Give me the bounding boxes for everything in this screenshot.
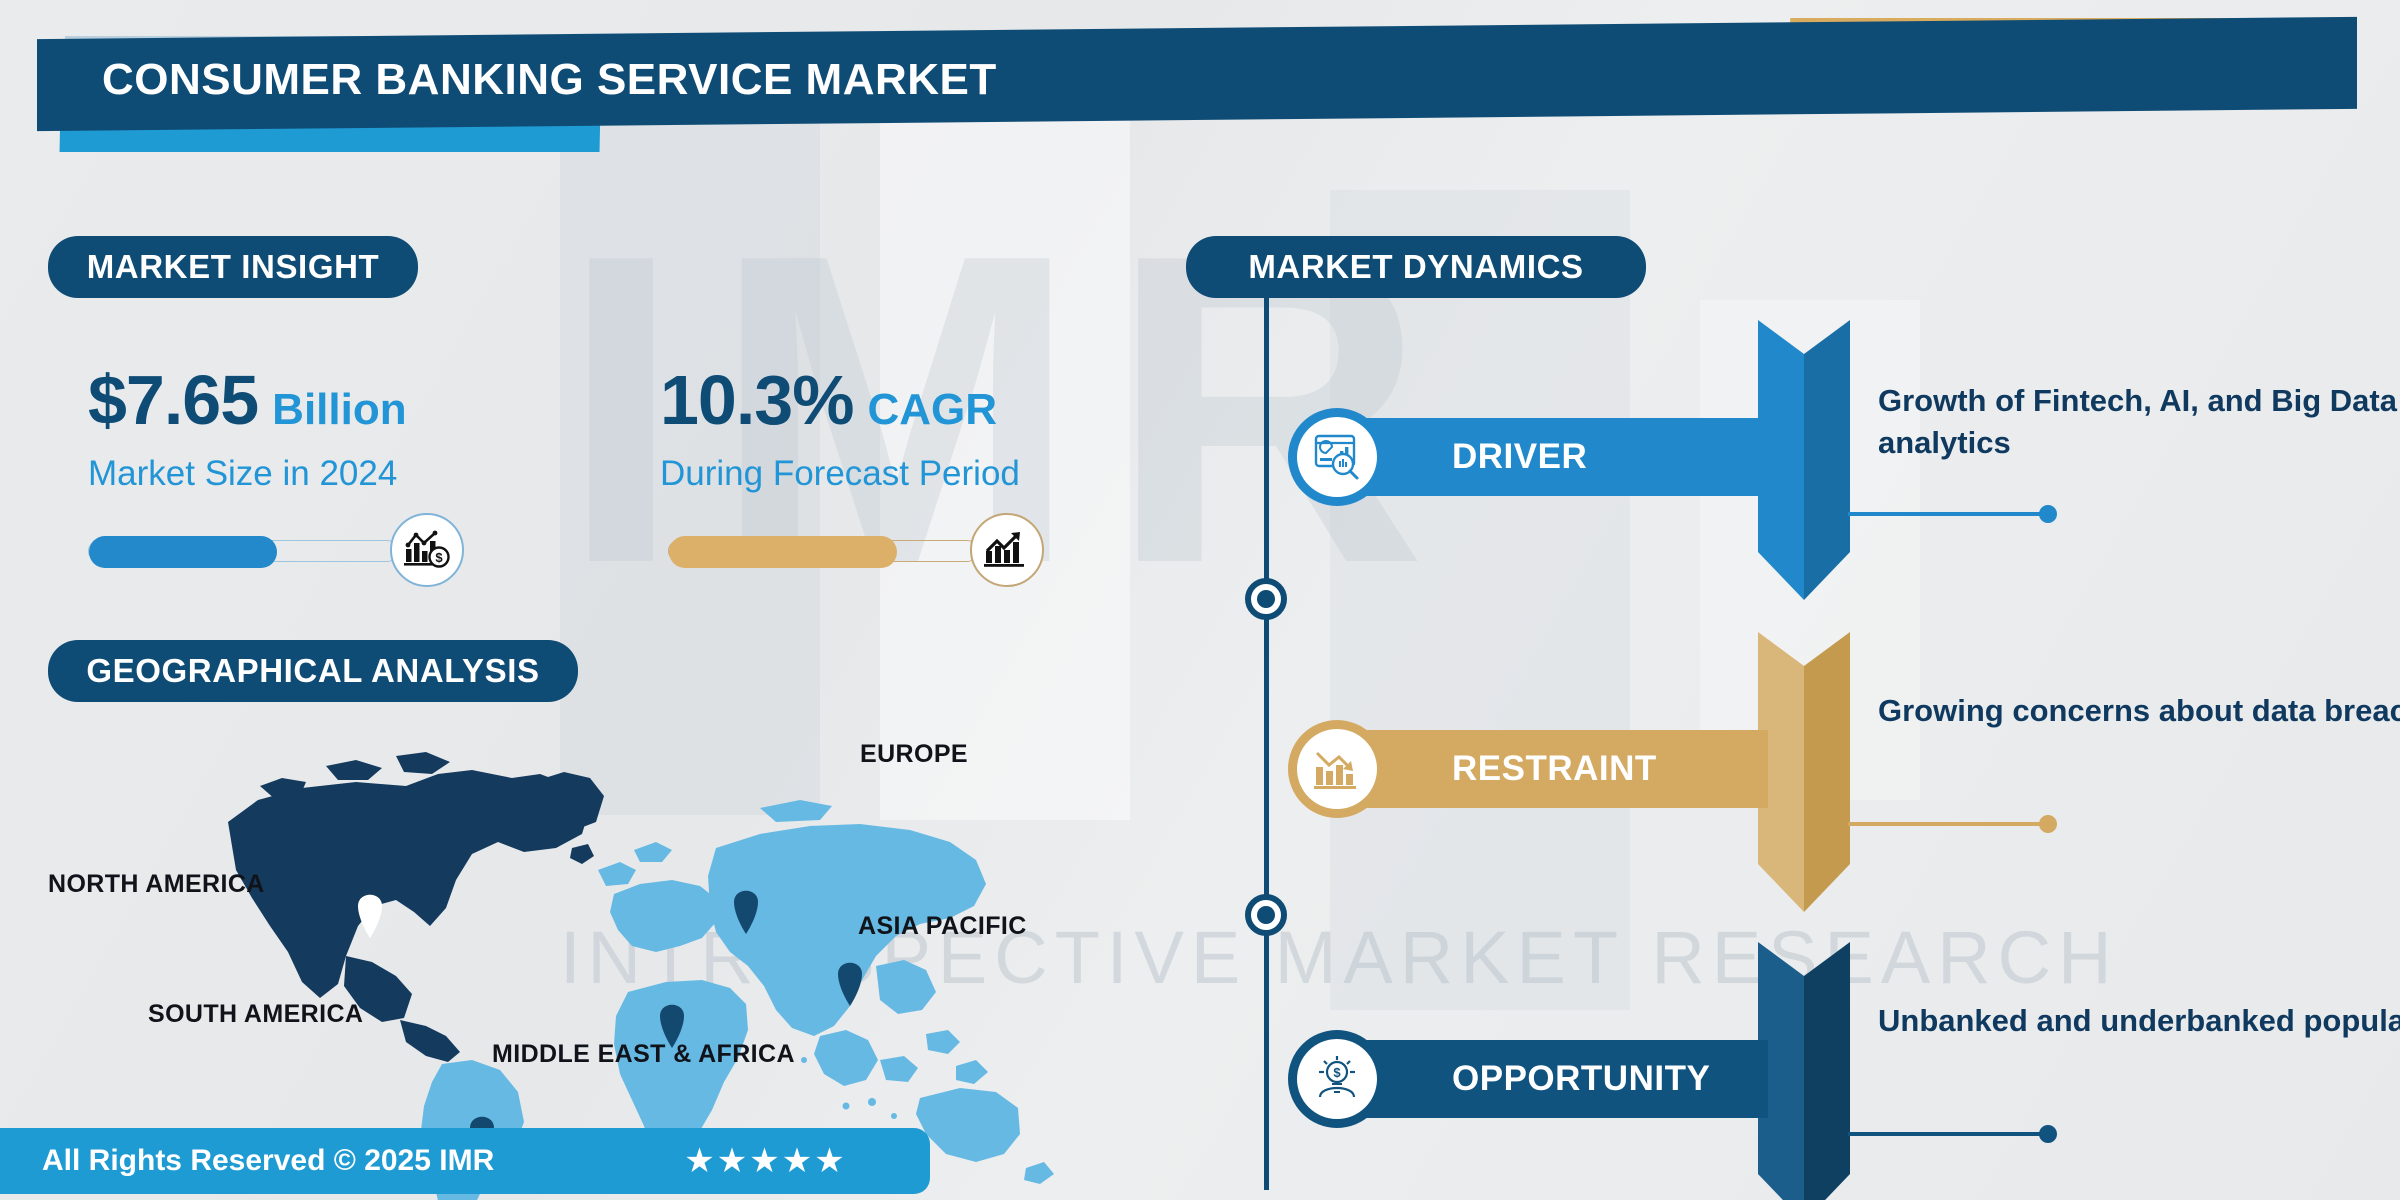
map-pin-north-america[interactable]: [358, 895, 382, 938]
driver-capsule[interactable]: DRIVER: [1326, 418, 1768, 496]
footer-star-rating: ★★★★★: [684, 1141, 846, 1181]
timeline-node-2: [1245, 894, 1287, 936]
map-region-europe: [598, 842, 718, 952]
map-label-south-america: SOUTH AMERICA: [148, 1000, 363, 1029]
opportunity-label: OPPORTUNITY: [1452, 1059, 1710, 1099]
timeline-spine: [1264, 290, 1269, 1190]
market-size-caption: Market Size in 2024: [88, 454, 407, 494]
bar-chart-dollar-icon: $: [390, 513, 464, 587]
timeline-node-1: [1245, 578, 1287, 620]
geographical-analysis-heading: GEOGRAPHICAL ANALYSIS: [48, 640, 578, 702]
market-dynamics-heading: MARKET DYNAMICS: [1186, 236, 1646, 298]
map-region-australia: [916, 1088, 1054, 1184]
map-label-europe: EUROPE: [860, 740, 968, 769]
restraint-ribbon: [1758, 632, 1850, 912]
cagr-progress-bar: [668, 540, 978, 562]
restraint-icon-ring: [1288, 720, 1386, 818]
market-size-progress-fill: [89, 536, 277, 568]
cagr-caption: During Forecast Period: [660, 454, 1020, 494]
opportunity-leader-dot: [2039, 1125, 2057, 1143]
opportunity-leader-line: [1848, 1132, 2048, 1136]
driver-leader-line: [1848, 512, 2048, 516]
opportunity-ribbon: [1758, 942, 1850, 1200]
driver-description: Growth of Fintech, AI, and Big Data anal…: [1878, 380, 2400, 464]
map-label-north-america: NORTH AMERICA: [48, 870, 265, 899]
market-size-unit: Billion: [272, 385, 406, 435]
restraint-description: Growing concerns about data breaches: [1878, 690, 2400, 732]
driver-leader-dot: [2039, 505, 2057, 523]
market-size-progress-bar: [88, 540, 398, 562]
cagr-value: 10.3%: [660, 360, 853, 440]
svg-text:$: $: [435, 550, 443, 565]
market-insight-heading: MARKET INSIGHT: [48, 236, 418, 298]
restraint-leader-dot: [2039, 815, 2057, 833]
background-panel-3: [1330, 190, 1630, 1010]
footer-bar: All Rights Reserved © 2025 IMR ★★★★★: [0, 1128, 930, 1194]
driver-ribbon: [1758, 320, 1850, 600]
market-size-value: $7.65: [88, 360, 258, 440]
map-label-middle-east-africa: MIDDLE EAST & AFRICA: [492, 1040, 795, 1069]
footer-copyright: All Rights Reserved © 2025 IMR: [42, 1144, 494, 1178]
cagr-unit: CAGR: [867, 385, 997, 435]
opportunity-description: Unbanked and underbanked population: [1878, 1000, 2400, 1042]
restraint-leader-line: [1848, 822, 2048, 826]
stat-market-size: $7.65Billion Market Size in 2024: [88, 360, 407, 494]
driver-label: DRIVER: [1452, 437, 1587, 477]
cagr-progress-fill: [669, 536, 897, 568]
infographic-canvas: IMR INTROSPECTIVE MARKET RESEARCH CONSUM…: [0, 0, 2400, 1200]
declining-bar-chart-icon: [1311, 741, 1363, 798]
header-bar: CONSUMER BANKING SERVICE MARKET: [37, 17, 2357, 131]
driver-icon-ring: [1288, 408, 1386, 506]
stat-cagr: 10.3%CAGR During Forecast Period: [660, 360, 1020, 494]
lightbulb-dollar-icon: $: [1311, 1051, 1363, 1108]
opportunity-icon-ring: $: [1288, 1030, 1386, 1128]
restraint-capsule[interactable]: RESTRAINT: [1326, 730, 1768, 808]
growth-arrow-chart-icon: [970, 513, 1044, 587]
map-label-asia-pacific: ASIA PACIFIC: [858, 912, 1027, 941]
restraint-label: RESTRAINT: [1452, 749, 1657, 789]
page-title: CONSUMER BANKING SERVICE MARKET: [102, 55, 997, 105]
opportunity-capsule[interactable]: OPPORTUNITY: [1326, 1040, 1768, 1118]
svg-text:$: $: [1333, 1065, 1341, 1080]
analytics-dashboard-search-icon: [1311, 429, 1363, 486]
